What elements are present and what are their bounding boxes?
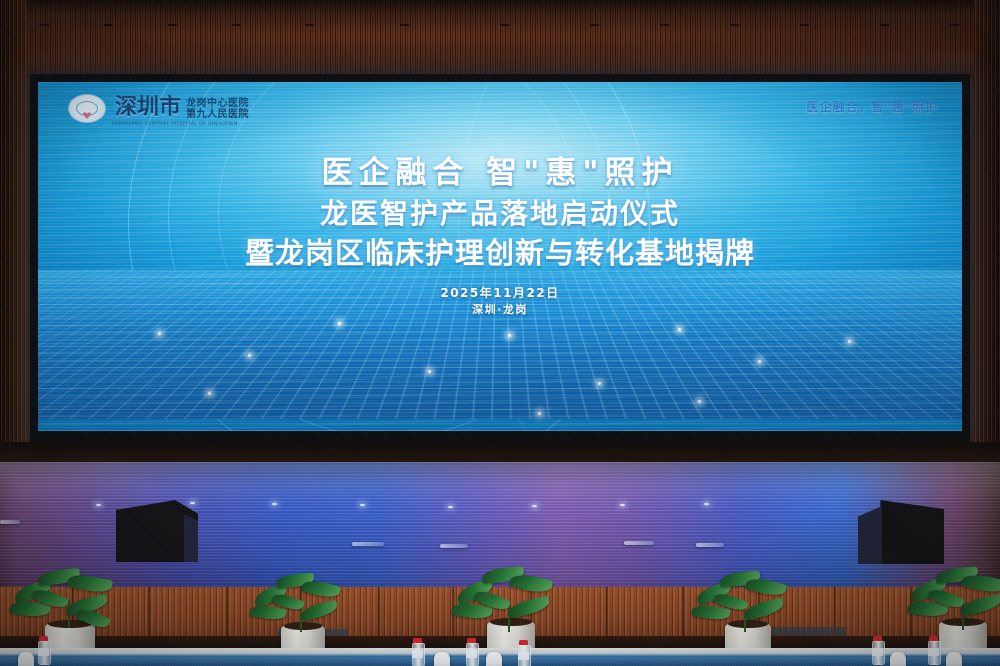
paper-cup — [946, 652, 962, 666]
water-bottle — [38, 636, 49, 666]
water-bottle — [518, 640, 529, 666]
back-wall-wood-panel — [0, 0, 1000, 78]
paper-cup — [18, 652, 34, 666]
event-date: 2025年11月22日 — [38, 284, 962, 302]
led-screen: 深圳市 龙岗中心医院 第九人民医院 LONGGANG CENTRAL HOSPI… — [38, 82, 962, 431]
water-bottle — [872, 636, 883, 666]
logo-hospital-line-1: 龙岗中心医院 — [186, 98, 249, 109]
water-bottle — [412, 638, 423, 666]
water-bottle — [466, 638, 477, 666]
logo-hospital-line-2: 第九人民医院 — [186, 109, 249, 120]
logo-english-name: LONGGANG CENTRAL HOSPITAL OF SHENZHEN — [112, 121, 237, 127]
hospital-logo: 深圳市 龙岗中心医院 第九人民医院 LONGGANG CENTRAL HOSPI… — [68, 94, 249, 123]
title-line-3: 暨龙岗区临床护理创新与转化基地揭牌 — [38, 235, 962, 273]
corner-slogan: 医企融合，智"惠"照护 — [806, 98, 938, 115]
under-screen-shadow-gap — [0, 442, 1000, 464]
title-line-2: 龙医智护产品落地启动仪式 — [38, 195, 962, 233]
event-meta: 2025年11月22日 深圳·龙岗 — [38, 284, 962, 319]
led-screen-bezel: 深圳市 龙岗中心医院 第九人民医院 LONGGANG CENTRAL HOSPI… — [30, 74, 970, 442]
stage-monitor-left — [116, 500, 198, 562]
hospital-crest-icon — [68, 94, 106, 123]
stage-monitor-right — [858, 500, 944, 564]
event-stage-photo: 深圳市 龙岗中心医院 第九人民医院 LONGGANG CENTRAL HOSPI… — [0, 0, 1000, 666]
logo-city-name: 深圳市 — [115, 97, 181, 119]
title-line-1: 医企融合 智"惠"照护 — [38, 154, 962, 193]
paper-cup — [486, 652, 502, 666]
paper-cup — [434, 652, 450, 666]
water-bottle — [928, 636, 939, 666]
paper-cup — [890, 652, 906, 666]
event-location: 深圳·龙岗 — [38, 302, 962, 319]
event-title-block: 医企融合 智"惠"照护 龙医智护产品落地启动仪式 暨龙岗区临床护理创新与转化基地… — [38, 154, 962, 319]
